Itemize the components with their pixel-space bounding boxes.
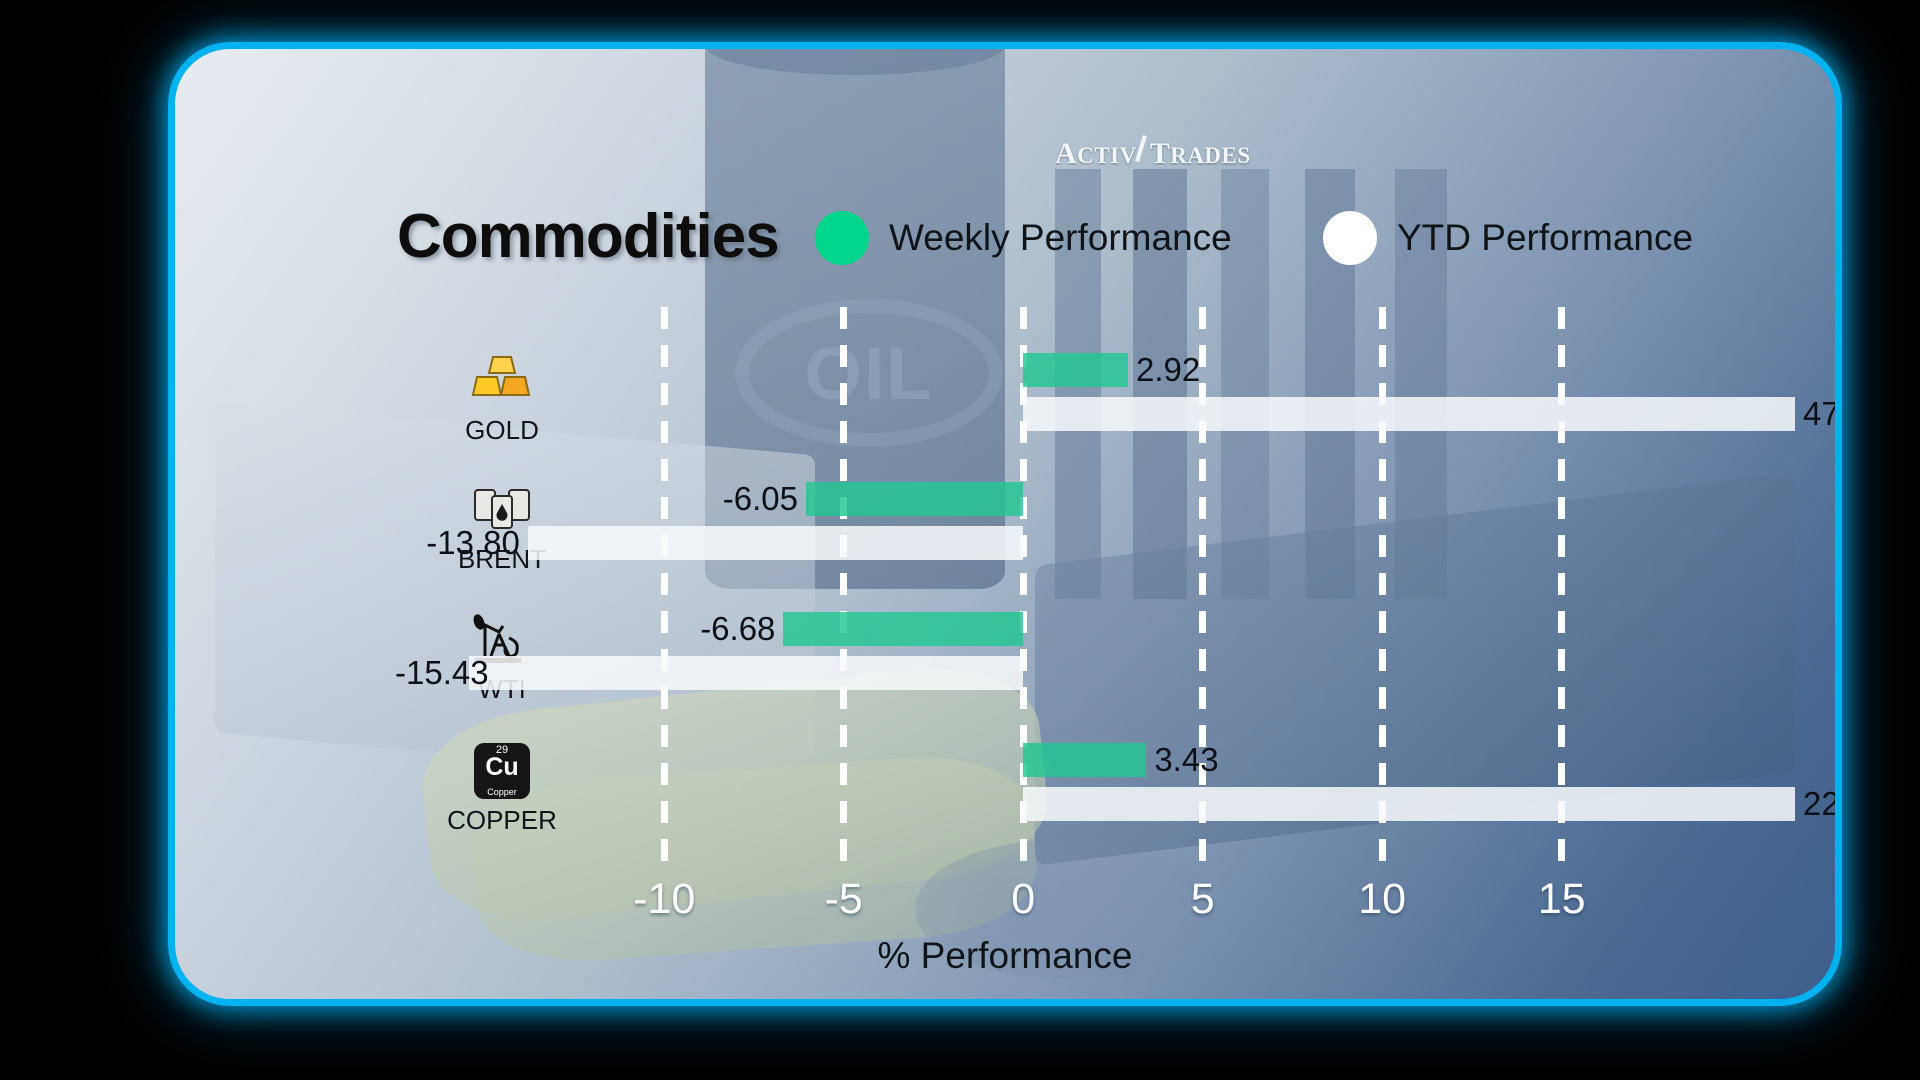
bar-gold-weekly[interactable] [1023, 353, 1128, 387]
infographic-card: OIL ACTIVTRADES Commodities Weekly Perfo… [168, 42, 1842, 1006]
legend-item-weekly[interactable]: Weekly Performance [815, 211, 1232, 265]
bar-value-gold-ytd: 47.02 [1803, 397, 1842, 431]
logo-rades: RADES [1170, 143, 1250, 169]
gridline--10 [661, 307, 668, 867]
x-axis-title: % Performance [175, 935, 1835, 977]
bar-copper-ytd[interactable] [1023, 787, 1795, 821]
legend-label-ytd: YTD Performance [1397, 217, 1693, 259]
screenshot-root: OIL ACTIVTRADES Commodities Weekly Perfo… [0, 0, 1920, 1080]
bar-value-wti-ytd: -15.43 [395, 656, 461, 690]
bar-copper-weekly[interactable] [1023, 743, 1146, 777]
x-tick-label: -10 [633, 875, 695, 924]
page-title: Commodities [397, 201, 779, 272]
gridline--5 [840, 307, 847, 867]
copper-element-icon: 29CuCopper [465, 743, 539, 807]
bar-brent-ytd[interactable] [528, 526, 1023, 560]
oil-drum-top-decoration [705, 42, 1005, 75]
bar-wti-ytd[interactable] [469, 656, 1023, 690]
x-tick-label: 5 [1191, 875, 1215, 924]
bar-value-brent-weekly: -6.05 [395, 482, 798, 516]
gold-bars-icon [465, 353, 539, 407]
x-tick-label: -5 [825, 875, 863, 924]
gridline-10 [1379, 307, 1386, 867]
activtrades-logo: ACTIVTRADES [1055, 133, 1251, 171]
legend-dot-white-icon [1323, 211, 1377, 265]
logo-a: A [1055, 137, 1077, 171]
bar-wti-weekly[interactable] [783, 612, 1023, 646]
bar-value-copper-weekly: 3.43 [1154, 743, 1218, 777]
legend-dot-green-icon [815, 211, 869, 265]
category-label-copper: COPPER [402, 805, 602, 836]
chart-plot-area: GOLD2.9247.02BRENT-6.05-13.80WTI-6.68-15… [395, 307, 1795, 867]
logo-ctiv: CTIV [1077, 143, 1137, 169]
legend-item-ytd[interactable]: YTD Performance [1323, 211, 1693, 265]
bar-value-brent-ytd: -13.80 [395, 526, 520, 560]
bar-value-gold-weekly: 2.92 [1136, 353, 1200, 387]
bar-value-wti-weekly: -6.68 [395, 612, 775, 646]
gridline-15 [1558, 307, 1565, 867]
category-label-gold: GOLD [402, 415, 602, 446]
x-axis-ticks: -10-5051015 [395, 875, 1795, 935]
bar-value-copper-ytd: 22.85 [1803, 787, 1842, 821]
gridline-5 [1199, 307, 1206, 867]
x-tick-label: 15 [1538, 875, 1586, 924]
bar-gold-ytd[interactable] [1023, 397, 1795, 431]
bar-brent-weekly[interactable] [806, 482, 1023, 516]
x-tick-label: 10 [1358, 875, 1406, 924]
logo-t: T [1150, 137, 1171, 171]
logo-check-icon [1136, 133, 1151, 163]
legend-label-weekly: Weekly Performance [889, 217, 1232, 259]
x-tick-label: 0 [1011, 875, 1035, 924]
zero-axis-line [1020, 307, 1027, 867]
